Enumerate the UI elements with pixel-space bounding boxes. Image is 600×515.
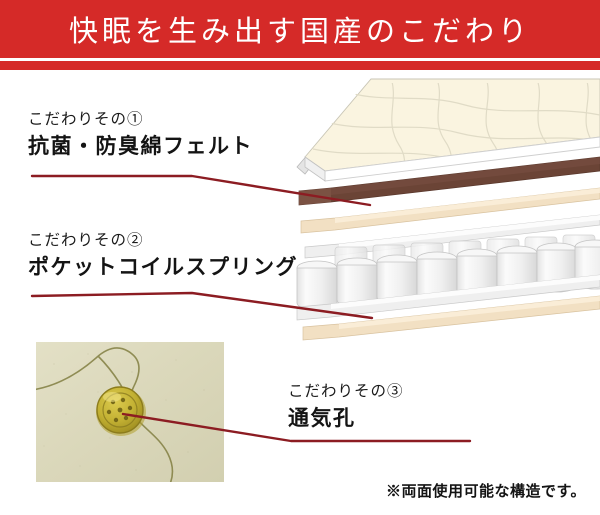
callout-2-title: ポケットコイルスプリング — [28, 253, 298, 280]
header-divider-line — [0, 58, 600, 61]
callout-3-index: こだわりその③ — [288, 382, 404, 401]
callout-1-title: 抗菌・防臭綿フェルト — [28, 132, 253, 159]
callout-2-index: こだわりその② — [28, 231, 298, 250]
callout-1: こだわりその① 抗菌・防臭綿フェルト — [28, 110, 253, 160]
page-header-banner: 快眠を生み出す国産のこだわり — [0, 0, 600, 70]
air-vent-closeup-photo — [36, 342, 224, 482]
callout-1-index: こだわりその① — [28, 110, 253, 129]
callout-3: こだわりその③ 通気孔 — [288, 382, 404, 432]
infographic-page: 快眠を生み出す国産のこだわり — [0, 0, 600, 515]
callout-2: こだわりその② ポケットコイルスプリング — [28, 231, 298, 281]
page-title: 快眠を生み出す国産のこだわり — [0, 0, 600, 58]
mattress-cutaway-illustration — [295, 75, 600, 365]
footer-note: ※両面使用可能な構造です。 — [386, 480, 586, 501]
callout-3-title: 通気孔 — [288, 404, 404, 431]
